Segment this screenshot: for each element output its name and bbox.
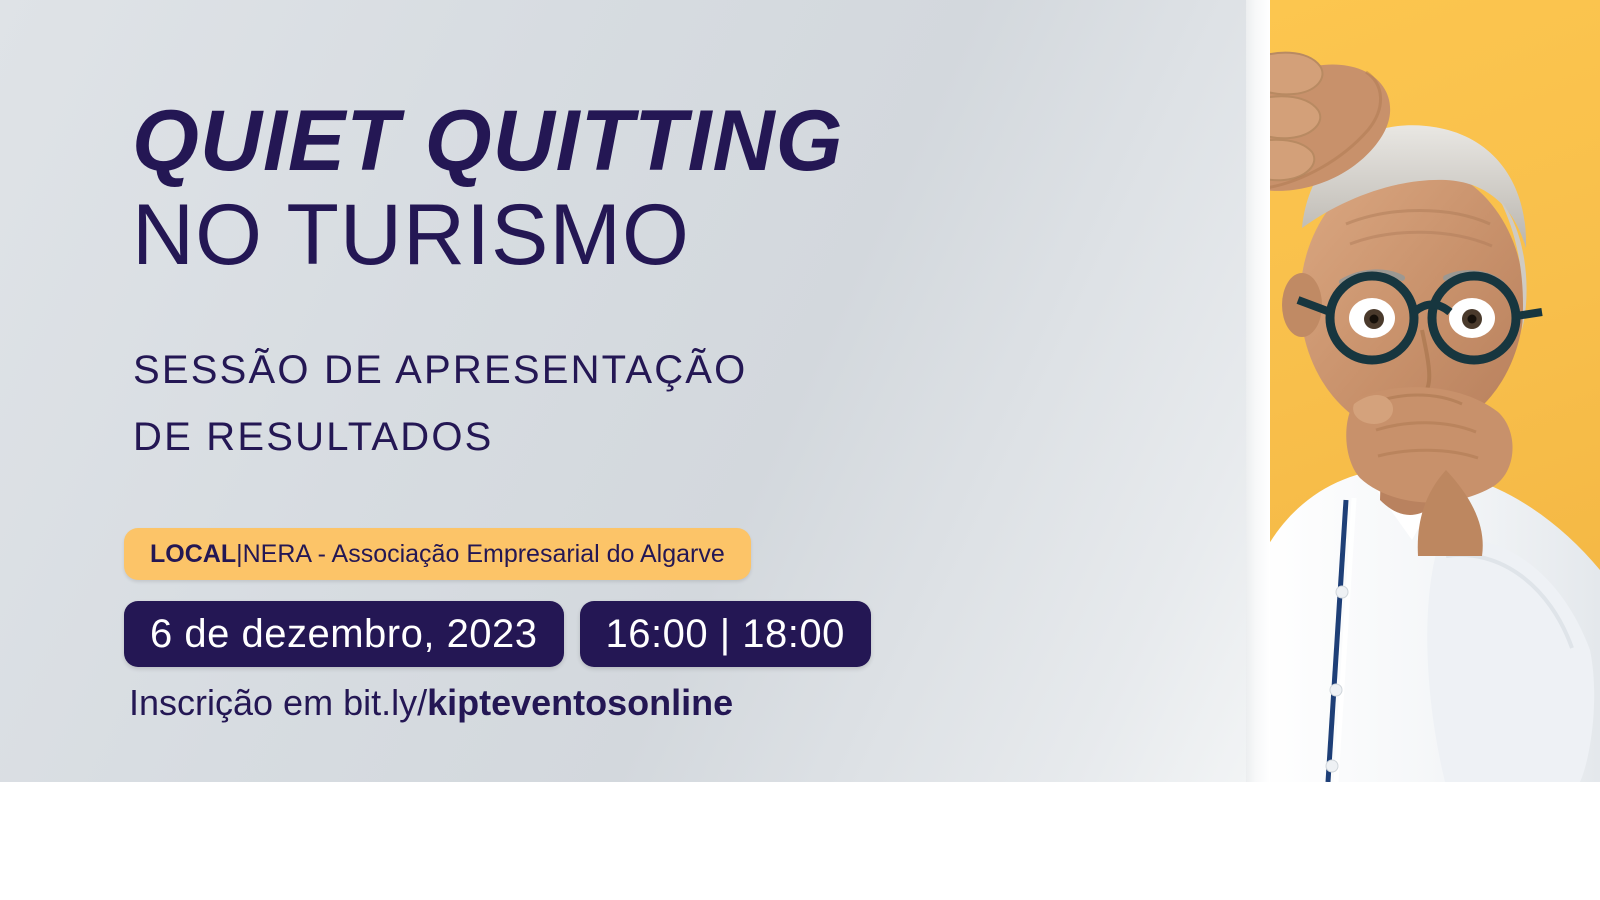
sponsor-logo-bar: KIPT Knowledge to Innovate Professions i… — [0, 782, 1600, 900]
location-label: LOCAL — [150, 540, 236, 569]
page-title-line2: NO TURISMO — [132, 192, 1132, 278]
date-badge: 6 de dezembro, 2023 — [124, 601, 564, 667]
subtitle-line1: SESSÃO DE APRESENTAÇÃO — [133, 350, 748, 390]
photo-elderly-man-shocked — [1250, 0, 1600, 782]
hero-area: QUIET QUITTING NO TURISMO SESSÃO DE APRE… — [0, 0, 1600, 782]
subtitle-line2: DE RESULTADOS — [133, 417, 494, 457]
signup-prefix: Inscrição em bit.ly/ — [129, 682, 427, 723]
page-title-line1: QUIET QUITTING — [132, 98, 1132, 184]
location-badge: LOCAL | NERA - Associação Empresarial do… — [124, 528, 751, 580]
location-value: NERA - Associação Empresarial do Algarve — [243, 540, 725, 569]
signup-link[interactable]: kipteventosonline — [427, 682, 733, 723]
datetime-badges: 6 de dezembro, 2023 16:00 | 18:00 — [124, 601, 871, 667]
time-badge: 16:00 | 18:00 — [580, 601, 871, 667]
panel-edge-highlight — [1246, 0, 1270, 782]
signup-line[interactable]: Inscrição em bit.ly/kipteventosonline — [129, 682, 733, 724]
event-poster: QUIET QUITTING NO TURISMO SESSÃO DE APRE… — [0, 0, 1600, 900]
